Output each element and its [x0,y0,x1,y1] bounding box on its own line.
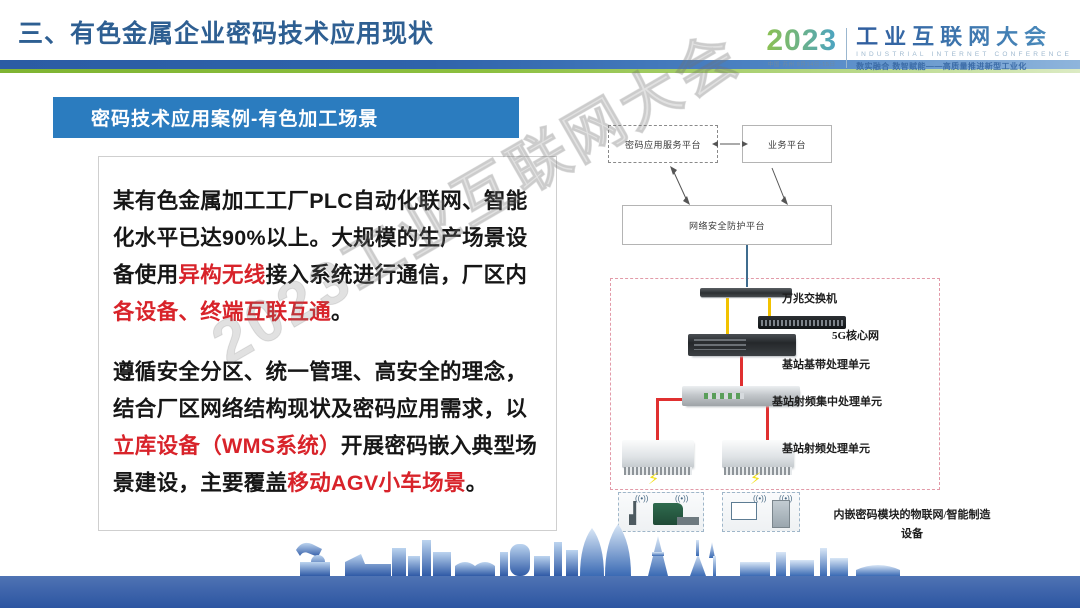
link-core-uplink [746,245,748,287]
link-rf-2 [656,398,659,440]
logo-name-block: 工业互联网大会 INDUSTRIAL INTERNET CONFERENCE 数… [847,26,1072,72]
device-rf-unit-1 [622,440,694,468]
architecture-diagram: 密码应用服务平台 业务平台 网络安全防护平台 ⚡ ⚡ 万兆交换机 [560,110,1040,540]
diagram-label-rf-central-unit: 基站射频集中处理单元 [772,393,882,409]
photo-agv-devices: ((•)) ((•)) [618,492,704,532]
logo-date: 中国·苏州 9月14日-15日 [766,60,837,68]
diagram-label-ten-gig-switch: 万兆交换机 [782,290,837,306]
diagram-label-bbu: 基站基带处理单元 [782,356,870,372]
photo-control-panel: ((•)) ((•)) [722,492,800,532]
link-rf-3 [766,406,769,440]
device-bbu [688,334,796,356]
diagram-label-5g-core-network: 5G核心网 [832,327,879,343]
wifi-icon-2: ((•)) [675,494,688,503]
hmi-screen-shape [731,502,757,520]
body-text: 接入系统进行通信，厂区内 [266,263,528,287]
logo-slogan: 数实融合 数智赋能——高质量推进新型工业化 [856,61,1072,72]
link-fiber-2 [768,298,771,316]
link-fiber-1 [726,298,729,334]
body-text: 。 [466,471,488,495]
highlighted-text: 各设备、终端互联互通 [113,300,331,324]
device-ten-gig-switch [700,288,792,297]
highlighted-text: 移动AGV小车场景 [287,471,465,495]
page-title: 三、有色金属企业密码技术应用现状 [18,14,434,50]
agv-pallet-shape [677,517,699,525]
link-rf-1 [740,356,743,386]
control-cabinet-shape [772,500,790,528]
section-caption-label: 密码技术应用案例-有色加工场景 [91,104,378,131]
logo-year: 2023 [766,26,837,56]
diagram-bottom-caption: 内嵌密码模块的物联网/智能制造设备 [832,506,992,544]
highlighted-text: 异构无线 [178,263,265,287]
logo-name-cn: 工业互联网大会 [856,26,1072,48]
paragraph-2: 遵循安全分区、统一管理、高安全的理念，结合厂区网络结构现状及密码应用需求，以立库… [113,354,544,502]
body-text: 遵循安全分区、统一管理、高安全的理念，结合厂区网络结构现状及密码应用需求，以 [113,360,527,421]
forklift-shape [629,501,641,525]
conference-logo: 2023 中国·苏州 9月14日-15日 工业互联网大会 INDUSTRIAL … [766,26,1072,72]
logo-name-en: INDUSTRIAL INTERNET CONFERENCE [856,51,1072,58]
slide-root: 三、有色金属企业密码技术应用现状 2023 中国·苏州 9月14日-15日 工业… [0,0,1080,608]
logo-year-block: 2023 中国·苏州 9月14日-15日 [766,26,846,68]
body-text: 。 [331,300,353,324]
wifi-icon-1: ((•)) [635,494,648,503]
highlighted-text: 立库设备（WMS系统） [113,434,341,458]
diagram-label-rf-unit: 基站射频处理单元 [782,440,870,456]
content-text-panel: 某有色金属加工工厂PLC自动化联网、智能化水平已达90%以上。大规模的生产场景设… [98,156,557,531]
paragraph-1: 某有色金属加工工厂PLC自动化联网、智能化水平已达90%以上。大规模的生产场景设… [113,183,544,331]
section-caption-bar: 密码技术应用案例-有色加工场景 [53,97,519,138]
